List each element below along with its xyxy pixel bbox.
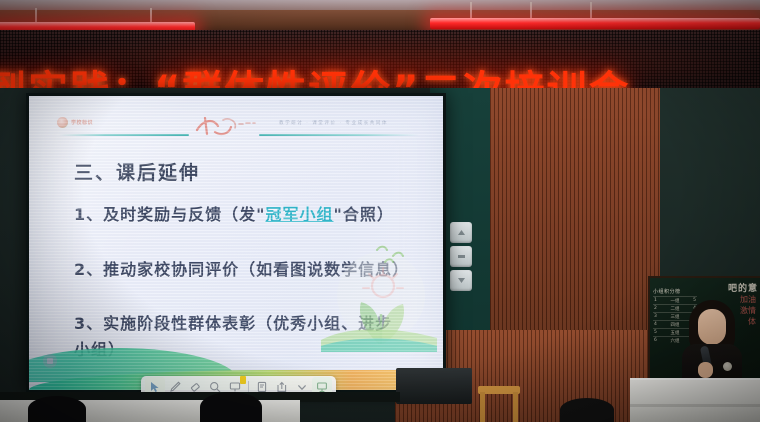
row-group: 六组 [671, 338, 680, 344]
wooden-chair [478, 386, 520, 422]
led-banner: 到实践：“群体性评价”二次培训会 [0, 30, 760, 92]
presentation-slide[interactable]: 学校标识 教学研讨 · 课堂评价 · 专业成长共同体 [29, 96, 443, 390]
slide-corner-badge-icon [43, 354, 57, 368]
lecture-hall-photo: 到实践：“群体性评价”二次培训会 学校标识 [0, 0, 760, 422]
logo-text: 学校标识 [71, 119, 93, 126]
audience-head [200, 392, 262, 422]
audience-head [560, 398, 614, 422]
spotlight-badge-icon [240, 376, 246, 384]
chalk-table-header: 小组积分榜 [653, 288, 697, 295]
slide-title: 三、课后延伸 [74, 158, 200, 185]
school-logo: 学校标识 [57, 117, 93, 128]
bullet-1-index: 1、 [74, 205, 103, 224]
bullet-1-prefix: 及时奖励与反馈（发" [103, 205, 265, 224]
slide-bullet-1: 1、及时奖励与反馈（发"冠军小组"合照） [74, 201, 394, 225]
chair-leg [513, 392, 518, 422]
audience-head [28, 396, 86, 422]
ceiling-light-bar [430, 18, 760, 29]
presenter [681, 300, 743, 386]
screen-control-panel[interactable] [450, 222, 472, 294]
presenter-face [698, 309, 726, 345]
monitor [396, 368, 472, 404]
bullet-1-suffix: "合照） [334, 205, 394, 224]
header-rule-right [259, 134, 419, 136]
bullet-1-highlight: 冠军小组 [265, 205, 333, 224]
presenter-hand [698, 362, 713, 378]
blackboard-title: 吧的意 [728, 281, 758, 294]
logo-mark-icon [57, 117, 68, 128]
bullet-2-index: 2、 [74, 260, 103, 279]
led-banner-text: 到实践：“群体性评价”二次培训会 [0, 58, 631, 92]
header-rule-left [59, 134, 189, 136]
bullet-3-index: 3、 [74, 314, 103, 333]
calligraphy-mark-icon [191, 114, 257, 140]
screen-stop-button[interactable] [450, 246, 472, 267]
sprout-sun-birds-icon [321, 240, 437, 352]
row-no: 6 [654, 338, 657, 344]
screen-up-button[interactable] [450, 222, 472, 243]
slide-header: 学校标识 教学研讨 · 课堂评价 · 专业成长共同体 [29, 114, 443, 148]
header-note: 教学研讨 · 课堂评价 · 专业成长共同体 [279, 120, 388, 126]
podium-edge [630, 404, 760, 407]
chair-leg [480, 392, 485, 422]
presenter-brooch [723, 362, 732, 371]
screen-down-button[interactable] [450, 270, 472, 291]
podium [630, 378, 760, 422]
